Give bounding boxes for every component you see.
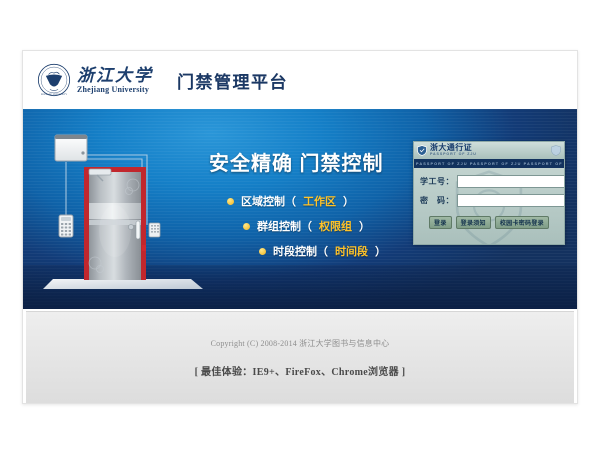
banner-slogan-block: 安全精确 门禁控制 区域控制（工作区） 群组控制（权限组） 时段控制（时间段） [209,147,414,268]
shield-icon [417,145,427,156]
access-control-door-illustration [41,127,216,302]
feature-item-area-control: 区域控制（工作区） [209,193,414,209]
login-panel: 浙大通行证 PASSPORT OF ZJU PASSPORT OF ZJU PA… [413,141,565,245]
browser-support-note: [ 最佳体验：IE9+、FireFox、Chrome浏览器 ] [195,363,406,378]
campus-card-password-login-button[interactable]: 校园卡密码登录 [495,216,549,229]
feature-label: 时段控制（ [273,243,328,259]
site-logo[interactable]: ZHEJIANG UNIVERSITY 浙江大学 Zhejiang Univer… [37,63,153,97]
feature-label: 群组控制（ [257,218,312,234]
login-form: 学工号： 密 码： 登录 登录须知 校园卡密码登录 [414,168,564,245]
logo-text-cn: 浙江大学 [77,67,153,84]
zju-seal-icon: ZHEJIANG UNIVERSITY [37,63,71,97]
login-notice-button[interactable]: 登录须知 [456,216,491,229]
feature-highlight: 工作区 [303,193,336,209]
feature-tail: ） [359,218,370,234]
bullet-icon [259,248,266,255]
passport-brand: 浙大通行证 PASSPORT OF ZJU [417,144,477,157]
login-row-username: 学工号： [420,175,558,188]
page-card: ZHEJIANG UNIVERSITY 浙江大学 Zhejiang Univer… [22,50,578,404]
bullet-icon [243,223,250,230]
student-staff-id-input[interactable] [457,175,565,188]
hero-banner: 安全精确 门禁控制 区域控制（工作区） 群组控制（权限组） 时段控制（时间段） [23,109,577,309]
site-header: ZHEJIANG UNIVERSITY 浙江大学 Zhejiang Univer… [23,51,577,109]
svg-text:ZHEJIANG UNIVERSITY: ZHEJIANG UNIVERSITY [41,93,68,96]
passport-brand-cn: 浙大通行证 [430,144,477,152]
login-row-password: 密 码： [420,194,558,207]
feature-tail: ） [375,243,386,259]
login-panel-titlebar: 浙大通行证 PASSPORT OF ZJU [414,142,564,159]
password-input[interactable] [457,194,565,207]
password-label: 密 码： [420,195,457,206]
feature-label: 区域控制（ [241,193,296,209]
feature-item-group-control: 群组控制（权限组） [209,218,414,234]
feature-item-time-control: 时段控制（时间段） [209,243,414,259]
shield-icon-right [551,145,561,156]
banner-slogan: 安全精确 门禁控制 [209,147,414,176]
login-button[interactable]: 登录 [429,216,452,229]
username-label: 学工号： [420,176,457,187]
login-button-group: 登录 登录须知 校园卡密码登录 [420,216,558,229]
page-title: 门禁管理平台 [177,68,288,93]
copyright-text: Copyright (C) 2008-2014 浙江大学图书与信息中心 [211,338,390,349]
site-footer: Copyright (C) 2008-2014 浙江大学图书与信息中心 [ 最佳… [26,311,574,404]
feature-highlight: 权限组 [319,218,352,234]
passport-strip-band: PASSPORT OF ZJU PASSPORT OF ZJU PASSPORT… [414,159,564,168]
passport-brand-en: PASSPORT OF ZJU [430,153,477,157]
feature-tail: ） [343,193,354,209]
feature-highlight: 时间段 [335,243,368,259]
logo-text-en: Zhejiang University [77,86,153,94]
feature-list: 区域控制（工作区） 群组控制（权限组） 时段控制（时间段） [209,193,414,259]
bullet-icon [227,198,234,205]
